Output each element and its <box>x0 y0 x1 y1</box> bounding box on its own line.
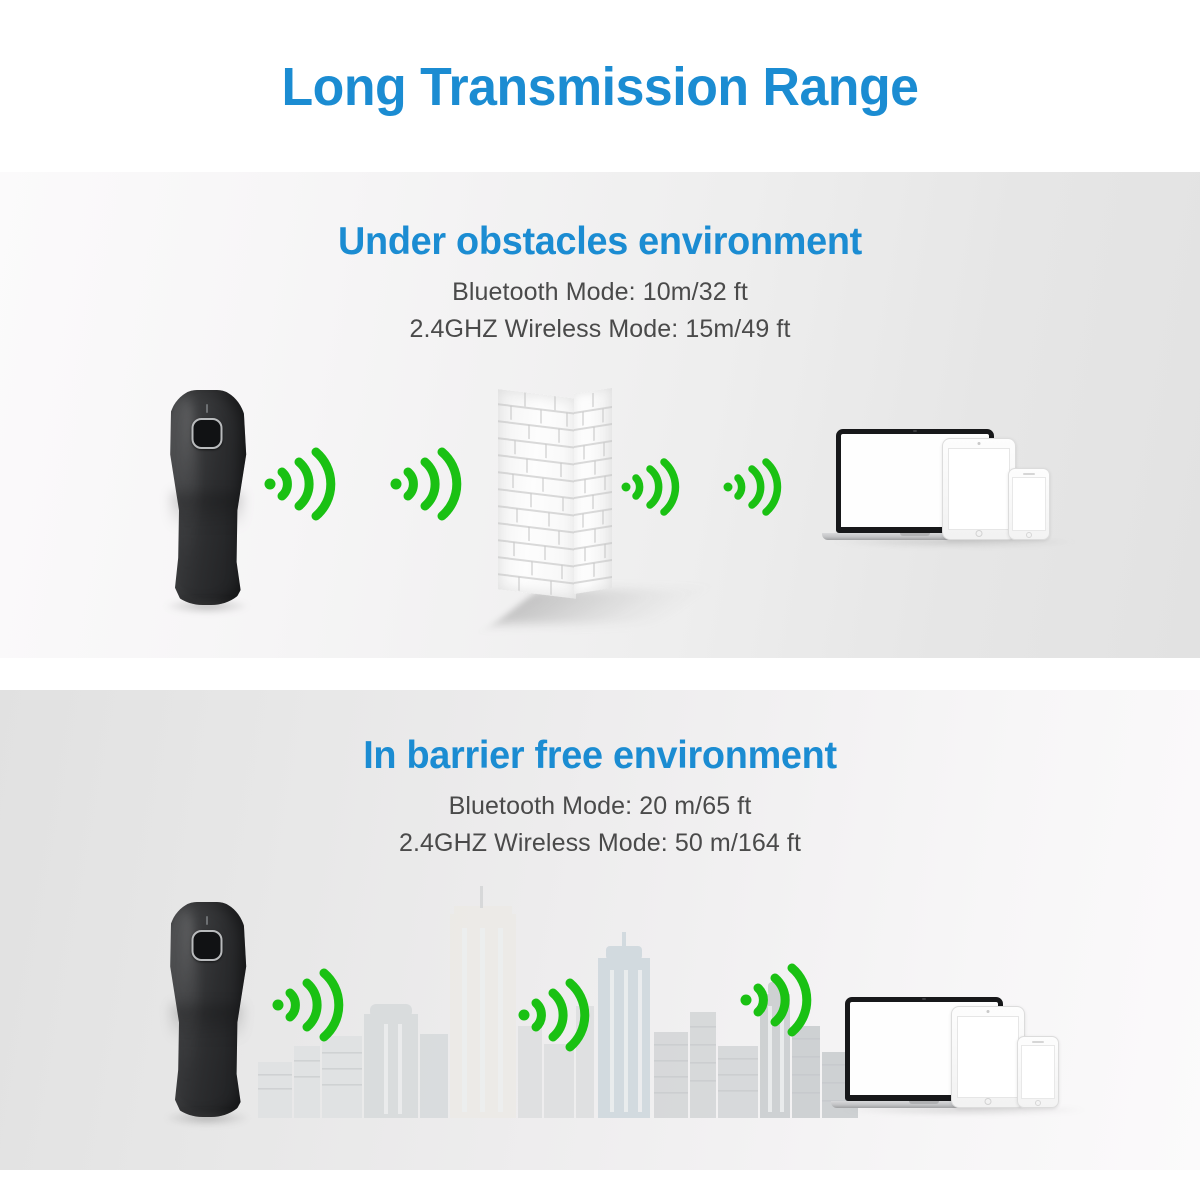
receiver-devices-1 <box>836 412 1086 552</box>
section-2-title: In barrier free environment <box>18 734 1182 778</box>
scanner-ground-shadow <box>164 1110 250 1126</box>
phone-speaker-icon <box>1023 473 1035 475</box>
scanner-trigger-button <box>192 418 223 449</box>
tablet-frame <box>942 438 1016 540</box>
phone-home-button <box>1026 532 1032 538</box>
section-2-bluetooth-mode: Bluetooth Mode: 20 m/65 ft <box>0 792 1200 821</box>
section-2-wireless-mode: 2.4GHZ Wireless Mode: 50 m/164 ft <box>0 829 1200 858</box>
phone-speaker-icon <box>1032 1041 1044 1043</box>
wall-side-bricks <box>574 388 612 594</box>
smartphone-device <box>1008 468 1050 540</box>
receiver-devices-2 <box>845 990 1095 1120</box>
phone-screen <box>1021 1045 1055 1099</box>
signal-waves-2 <box>516 975 596 1055</box>
signal-waves-4 <box>722 455 786 519</box>
phone-home-button <box>1035 1100 1041 1106</box>
wall-side-face <box>574 388 612 594</box>
scanner-led-indicator <box>206 916 208 925</box>
section-under-obstacles: Under obstacles environment Bluetooth Mo… <box>0 172 1200 658</box>
scanner-shading <box>172 1005 242 1039</box>
phone-screen <box>1012 477 1046 531</box>
tablet-device <box>942 438 1016 540</box>
laptop-notch <box>900 533 930 536</box>
tablet-frame <box>951 1006 1025 1108</box>
signal-waves-3 <box>620 455 684 519</box>
section-1-bluetooth-mode: Bluetooth Mode: 10m/32 ft <box>0 278 1200 307</box>
wall-front-face <box>498 389 576 599</box>
tablet-camera-icon <box>987 1010 990 1013</box>
scanner-ground-shadow <box>164 598 250 614</box>
tablet-home-button <box>976 530 983 537</box>
phone-frame <box>1008 468 1050 540</box>
tablet-screen <box>948 448 1010 530</box>
tablet-device <box>951 1006 1025 1108</box>
scanner-shading <box>172 493 242 527</box>
signal-waves-3 <box>738 960 818 1040</box>
smartphone-device <box>1017 1036 1059 1108</box>
barcode-scanner <box>167 902 247 1117</box>
scanner-trigger-button <box>192 930 223 961</box>
laptop-camera-icon <box>913 430 917 432</box>
laptop-notch <box>909 1101 939 1104</box>
section-1-wireless-mode: 2.4GHZ Wireless Mode: 15m/49 ft <box>0 315 1200 344</box>
signal-waves-2 <box>388 444 468 524</box>
signal-waves-1 <box>262 444 342 524</box>
page-title: Long Transmission Range <box>24 56 1176 118</box>
section-1-title: Under obstacles environment <box>18 220 1182 264</box>
scanner-led-indicator <box>206 404 208 413</box>
barcode-scanner <box>167 390 247 605</box>
tablet-camera-icon <box>978 442 981 445</box>
phone-frame <box>1017 1036 1059 1108</box>
tablet-home-button <box>985 1098 992 1105</box>
laptop-camera-icon <box>922 998 926 1000</box>
section-barrier-free: In barrier free environment Bluetooth Mo… <box>0 690 1200 1170</box>
tablet-screen <box>957 1016 1019 1098</box>
product-feature-page: Long Transmission Range Under obstacles … <box>0 0 1200 1200</box>
wall-front-bricks <box>498 389 576 599</box>
signal-waves-1 <box>270 965 350 1045</box>
wall-ground-shadow <box>494 590 706 624</box>
